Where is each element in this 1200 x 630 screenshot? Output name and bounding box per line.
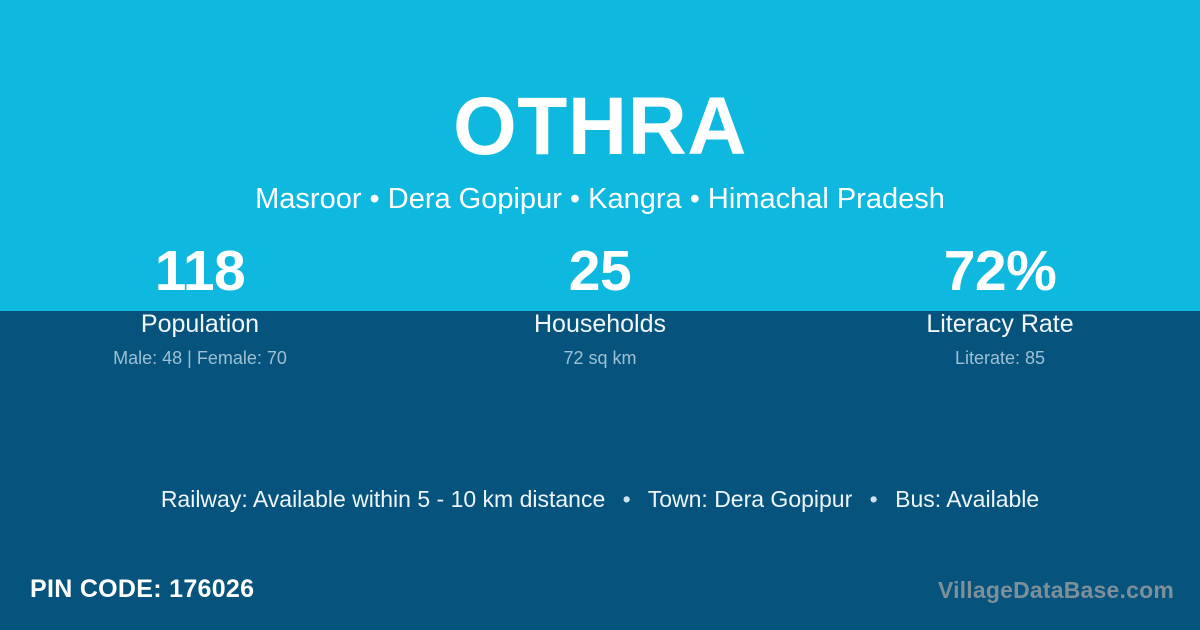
stat-label-households: Households — [400, 310, 800, 339]
stat-label-population: Population — [0, 310, 400, 339]
stat-detail-literacy-rate: Literate: 85 — [800, 347, 1200, 369]
site-watermark: VillageDataBase.com — [938, 574, 1174, 606]
breadcrumb: Masroor • Dera Gopipur • Kangra • Himach… — [0, 181, 1200, 217]
pin-code-label: PIN CODE: 176026 — [30, 572, 254, 606]
bullet-separator-icon: • — [859, 484, 889, 514]
bullet-separator-icon: • — [612, 484, 642, 514]
stat-detail-population: Male: 48 | Female: 70 — [0, 347, 400, 369]
village-info-card: OTHRA Masroor • Dera Gopipur • Kangra • … — [0, 0, 1200, 630]
infrastructure-railway: Railway: Available within 5 - 10 km dist… — [161, 486, 605, 512]
statistics-row: 118 Population Male: 48 | Female: 70 25 … — [0, 240, 1200, 369]
stat-population: 118 Population Male: 48 | Female: 70 — [0, 240, 400, 369]
card-footer: PIN CODE: 176026 VillageDataBase.com — [0, 572, 1200, 614]
stat-value-households: 25 — [400, 240, 800, 303]
stat-literacy-rate: 72% Literacy Rate Literate: 85 — [800, 240, 1200, 369]
stat-label-literacy-rate: Literacy Rate — [800, 310, 1200, 339]
stat-value-literacy-rate: 72% — [800, 240, 1200, 303]
infrastructure-line: Railway: Available within 5 - 10 km dist… — [0, 484, 1200, 514]
stat-households: 25 Households 72 sq km — [400, 240, 800, 369]
infrastructure-bus: Bus: Available — [895, 486, 1039, 512]
page-title: OTHRA — [0, 85, 1200, 169]
infrastructure-town: Town: Dera Gopipur — [648, 486, 853, 512]
stat-value-population: 118 — [0, 240, 400, 303]
stat-detail-households: 72 sq km — [400, 347, 800, 369]
